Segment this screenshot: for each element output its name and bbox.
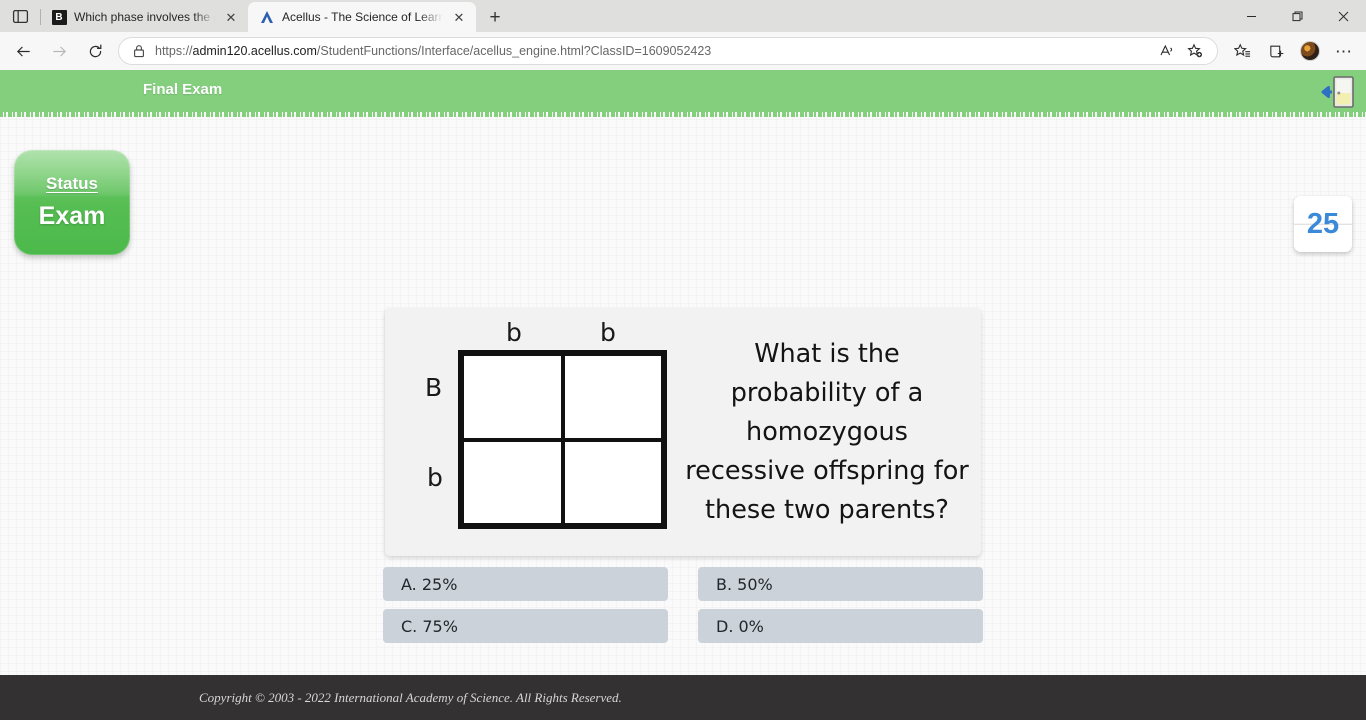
answer-option-c[interactable]: C. 75%: [383, 609, 668, 643]
collections-icon[interactable]: [1260, 36, 1292, 66]
back-icon[interactable]: [6, 36, 40, 66]
answer-option-b[interactable]: B. 50%: [698, 567, 983, 601]
copyright-text: Copyright © 2003 - 2022 International Ac…: [199, 690, 622, 706]
tab-brainly[interactable]: B Which phase involves the pinchi ✕: [40, 2, 248, 32]
profile-avatar[interactable]: [1294, 36, 1326, 66]
punnett-cell: [563, 440, 664, 526]
exit-door-icon[interactable]: [1316, 71, 1358, 113]
minimize-icon[interactable]: [1228, 0, 1274, 32]
punnett-square: b b B b: [385, 308, 685, 556]
answer-choices: A. 25% B. 50% C. 75% D. 0%: [383, 567, 983, 643]
answer-option-d[interactable]: D. 0%: [698, 609, 983, 643]
tab-title: Acellus - The Science of Learning: [282, 10, 443, 24]
punnett-column-label-2: b: [600, 318, 616, 347]
window-controls: [1228, 0, 1366, 32]
punnett-cell: [563, 354, 664, 440]
punnett-row-label-1: B: [425, 373, 442, 402]
close-icon[interactable]: ✕: [222, 8, 240, 26]
answer-option-a[interactable]: A. 25%: [383, 567, 668, 601]
url-host: admin120.acellus.com: [193, 44, 317, 58]
acellus-favicon: [259, 9, 275, 25]
tab-title: Which phase involves the pinchi: [74, 10, 215, 24]
punnett-row-label-2: b: [427, 463, 443, 492]
status-label: Status: [46, 174, 98, 194]
add-favorite-icon[interactable]: [1181, 39, 1209, 63]
settings-more-icon[interactable]: ⋯: [1328, 36, 1360, 66]
url-text: https://admin120.acellus.com/StudentFunc…: [155, 44, 1153, 58]
punnett-grid: [458, 350, 667, 529]
status-value: Exam: [39, 202, 106, 231]
tab-strip: B Which phase involves the pinchi ✕ Acel…: [0, 0, 1366, 32]
navigation-toolbar: https://admin120.acellus.com/StudentFunc…: [0, 32, 1366, 70]
page-title: Final Exam: [143, 81, 222, 98]
browser-window: B Which phase involves the pinchi ✕ Acel…: [0, 0, 1366, 720]
reload-icon[interactable]: [78, 36, 112, 66]
punnett-column-label-1: b: [506, 318, 522, 347]
tab-acellus[interactable]: Acellus - The Science of Learning ✕: [248, 2, 476, 32]
exam-header-bar: Final Exam: [0, 70, 1366, 112]
address-bar[interactable]: https://admin120.acellus.com/StudentFunc…: [118, 37, 1218, 65]
question-card: b b B b What is the probability of a hom…: [385, 308, 981, 556]
question-number-badge: 25: [1294, 196, 1352, 252]
forward-icon[interactable]: [42, 36, 76, 66]
tab-search-icon[interactable]: [0, 0, 40, 32]
restore-icon[interactable]: [1274, 0, 1320, 32]
brainly-favicon: B: [51, 9, 67, 25]
close-icon[interactable]: ✕: [450, 8, 468, 26]
lock-icon: [131, 43, 147, 59]
favorites-icon[interactable]: [1226, 36, 1258, 66]
punnett-cell: [462, 440, 563, 526]
read-aloud-icon[interactable]: [1153, 39, 1181, 63]
acellus-page: Final Exam Status Exam 25 b b B: [0, 70, 1366, 720]
close-icon[interactable]: [1320, 0, 1366, 32]
status-badge[interactable]: Status Exam: [14, 150, 130, 255]
question-text: What is the probability of a homozygous …: [685, 308, 981, 556]
url-protocol: https://: [155, 44, 193, 58]
new-tab-button[interactable]: +: [480, 4, 510, 32]
question-number: 25: [1307, 208, 1339, 241]
punnett-cell: [462, 354, 563, 440]
url-path: /StudentFunctions/Interface/acellus_engi…: [317, 44, 711, 58]
page-footer: Copyright © 2003 - 2022 International Ac…: [0, 675, 1366, 720]
